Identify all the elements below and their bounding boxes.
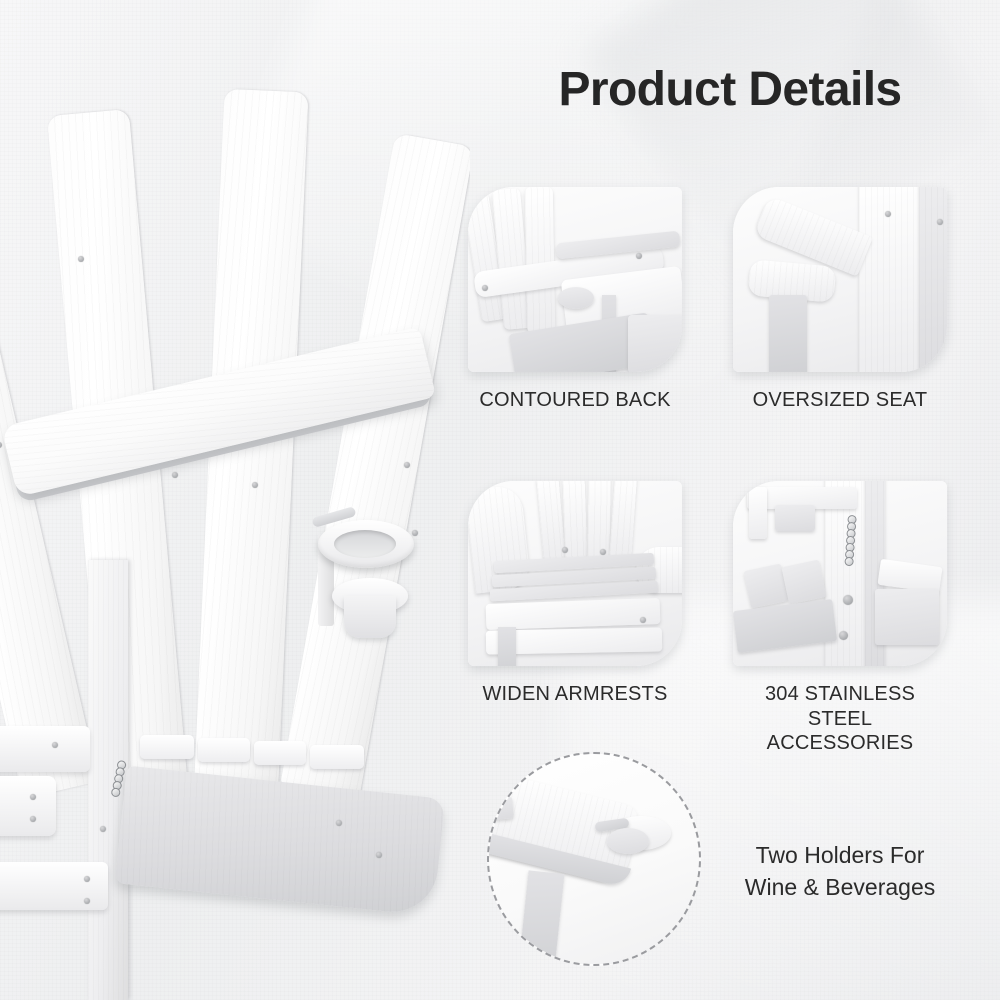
screw-head [376,852,382,858]
feature-card-oversized-seat[interactable]: OVERSIZED SEAT [733,187,947,413]
highlight-caption: Two Holders For Wine & Beverages [700,840,980,903]
chair-rear-rail [487,796,514,821]
chair-front-leg [498,627,516,666]
screw-head [562,547,568,553]
screw-head [640,617,646,623]
seat-slat [198,738,250,762]
screw-head [100,826,106,832]
screw-head [636,253,642,259]
wine-glass-holder-hole [334,530,396,558]
feature-caption: CONTOURED BACK [468,388,682,413]
stainless-screw-head [843,595,853,605]
chair-front-leg [769,295,807,372]
screw-head [482,285,488,291]
cup-holder [607,828,649,854]
stainless-screw-head [839,631,848,640]
cup-holder-cup [344,596,396,638]
feature-card-row: WIDEN ARMRESTS [468,481,938,756]
chair-side-rail-lower [875,589,939,645]
chair-side-rail [0,726,90,772]
chair-apron-stringer [115,766,446,917]
chair-back-panel-edge [919,187,947,372]
oversized-seat-thumbnail [733,187,947,372]
screw-head [78,256,84,262]
seat-slat [140,735,194,759]
feature-caption: OVERSIZED SEAT [733,388,947,413]
circle-photo-inner [489,754,699,964]
contoured-back-thumbnail [468,187,682,372]
feature-caption: WIDEN ARMRESTS [468,682,682,707]
screw-head [84,898,90,904]
hero-product-photo [0,0,470,1000]
screw-head [52,742,58,748]
feature-card-grid: CONTOURED BACK OVERSIZED SEAT [468,187,938,756]
screw-head [885,211,891,217]
product-details-page: Product Details [0,0,1000,1000]
back-slat [281,133,470,797]
two-cup-holders-closeup [487,752,701,966]
cup-holder [558,287,594,309]
seat-slat [254,741,306,765]
feature-card-row: CONTOURED BACK OVERSIZED SEAT [468,187,938,413]
chair-side-rail [628,315,682,372]
screw-head [412,530,418,536]
chair-armrest-support [749,487,767,539]
chair-back-slat [587,481,610,563]
feature-caption: 304 STAINLESS STEEL ACCESSORIES [733,682,947,756]
seat-slat [310,745,364,769]
page-title: Product Details [470,62,990,117]
screw-head [404,462,410,468]
screw-head [252,482,258,488]
chair-slat [781,559,826,604]
screw-head [172,472,178,478]
stainless-steel-accessories-thumbnail [733,481,947,666]
chair-front-leg [518,870,565,966]
chair-side-rail [0,862,108,910]
feature-card-stainless-steel[interactable]: 304 STAINLESS STEEL ACCESSORIES [733,481,947,756]
screw-head [937,219,943,225]
screw-head [30,794,36,800]
chair-bracket [775,505,815,531]
card-row-spacer [468,413,938,481]
screw-head [84,876,90,882]
widen-armrests-thumbnail [468,481,682,666]
wine-glass-holder-ring [318,520,414,568]
chair-side-rail [0,776,56,836]
highlight-caption-line-1: Two Holders For [700,840,980,872]
screw-head [600,549,606,555]
screw-head [30,816,36,822]
screw-head [336,820,342,826]
feature-card-contoured-back[interactable]: CONTOURED BACK [468,187,682,413]
chair-back-slat [525,187,556,333]
feature-card-widen-armrests[interactable]: WIDEN ARMRESTS [468,481,682,756]
highlight-caption-line-2: Wine & Beverages [700,872,980,904]
